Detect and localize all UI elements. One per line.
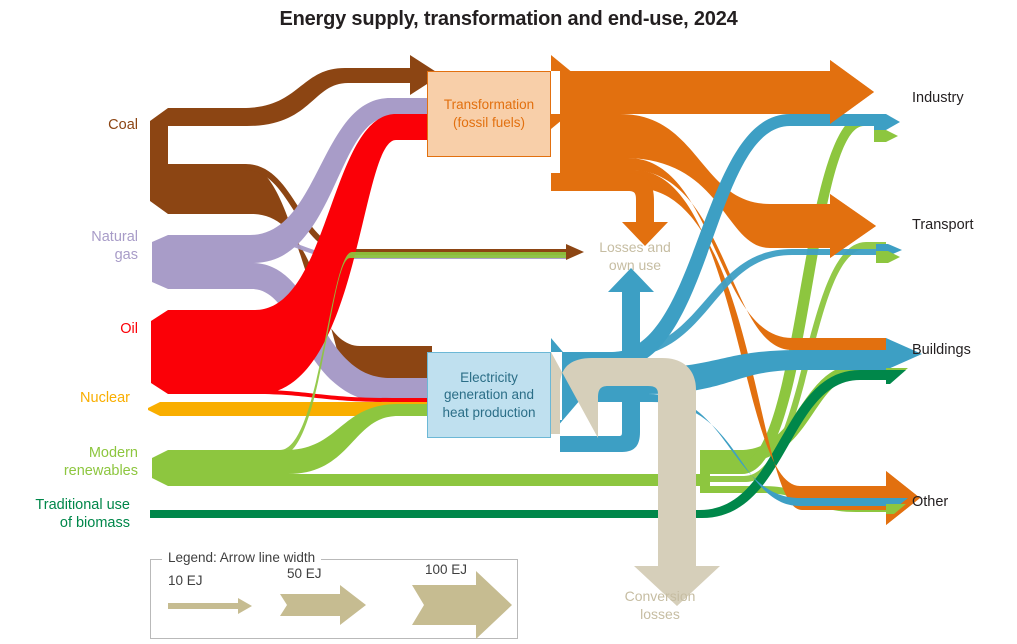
arrowhead-transport-green <box>876 251 900 263</box>
arrowhead-industry-blue <box>874 114 900 130</box>
source-chevron-coal <box>150 108 168 214</box>
source-label-modern-renewables: Modern renewables <box>0 444 138 480</box>
source-label-biomass-line1: Traditional use <box>0 496 130 514</box>
destination-label-transport: Transport <box>912 217 974 233</box>
source-chevron-oil <box>151 310 168 394</box>
losses-line1: Losses and <box>580 238 690 256</box>
node-electricity[interactable]: Electricity generation and heat producti… <box>427 352 551 438</box>
source-label-nuclear: Nuclear <box>0 389 130 407</box>
source-label-renewables-line2: renewables <box>0 462 138 480</box>
legend-arrows <box>150 559 518 639</box>
node-transformation-line2: (fossil fuels) <box>444 114 534 132</box>
source-label-biomass-line2: of biomass <box>0 514 130 532</box>
source-label-natural-gas: Natural gas <box>0 228 138 264</box>
source-label-coal: Coal <box>0 116 138 134</box>
node-electricity-line3: heat production <box>442 404 535 422</box>
source-label-oil-line1: Oil <box>0 320 138 338</box>
destination-label-other: Other <box>912 494 948 510</box>
source-label-gas-line2: gas <box>0 246 138 264</box>
source-label-renewables-line1: Modern <box>0 444 138 462</box>
source-label-oil: Oil <box>0 320 138 338</box>
losses-line2: own use <box>580 256 690 274</box>
conversion-line2: losses <box>600 605 720 623</box>
source-label-gas-line1: Natural <box>0 228 138 246</box>
node-transformation-line1: Transformation <box>444 96 534 114</box>
source-chevron-gas <box>152 235 168 289</box>
source-chevron-nuclear <box>148 402 160 416</box>
source-label-coal-line1: Coal <box>0 116 138 134</box>
legend-arrow-50ej <box>280 585 366 625</box>
arrowhead-buildings-dgreen <box>886 370 906 384</box>
node-transformation[interactable]: Transformation (fossil fuels) <box>427 71 551 157</box>
label-conversion-losses: Conversion losses <box>600 587 720 623</box>
destination-label-industry: Industry <box>912 90 964 106</box>
node-electricity-line2: generation and <box>442 386 535 404</box>
legend-arrow-100ej <box>412 571 512 639</box>
source-label-traditional-biomass: Traditional use of biomass <box>0 496 130 532</box>
conversion-line1: Conversion <box>600 587 720 605</box>
node-electricity-line1: Electricity <box>442 369 535 387</box>
legend-arrow-10ej <box>168 598 252 614</box>
destination-label-buildings: Buildings <box>912 342 971 358</box>
label-losses-and-own-use: Losses and own use <box>580 238 690 274</box>
source-label-nuclear-line1: Nuclear <box>0 389 130 407</box>
arrowhead-industry-green <box>874 130 898 142</box>
page-title: Energy supply, transformation and end-us… <box>0 8 1017 31</box>
sankey-figure: Energy supply, transformation and end-us… <box>0 0 1017 644</box>
source-chevron-renewables <box>152 450 168 486</box>
